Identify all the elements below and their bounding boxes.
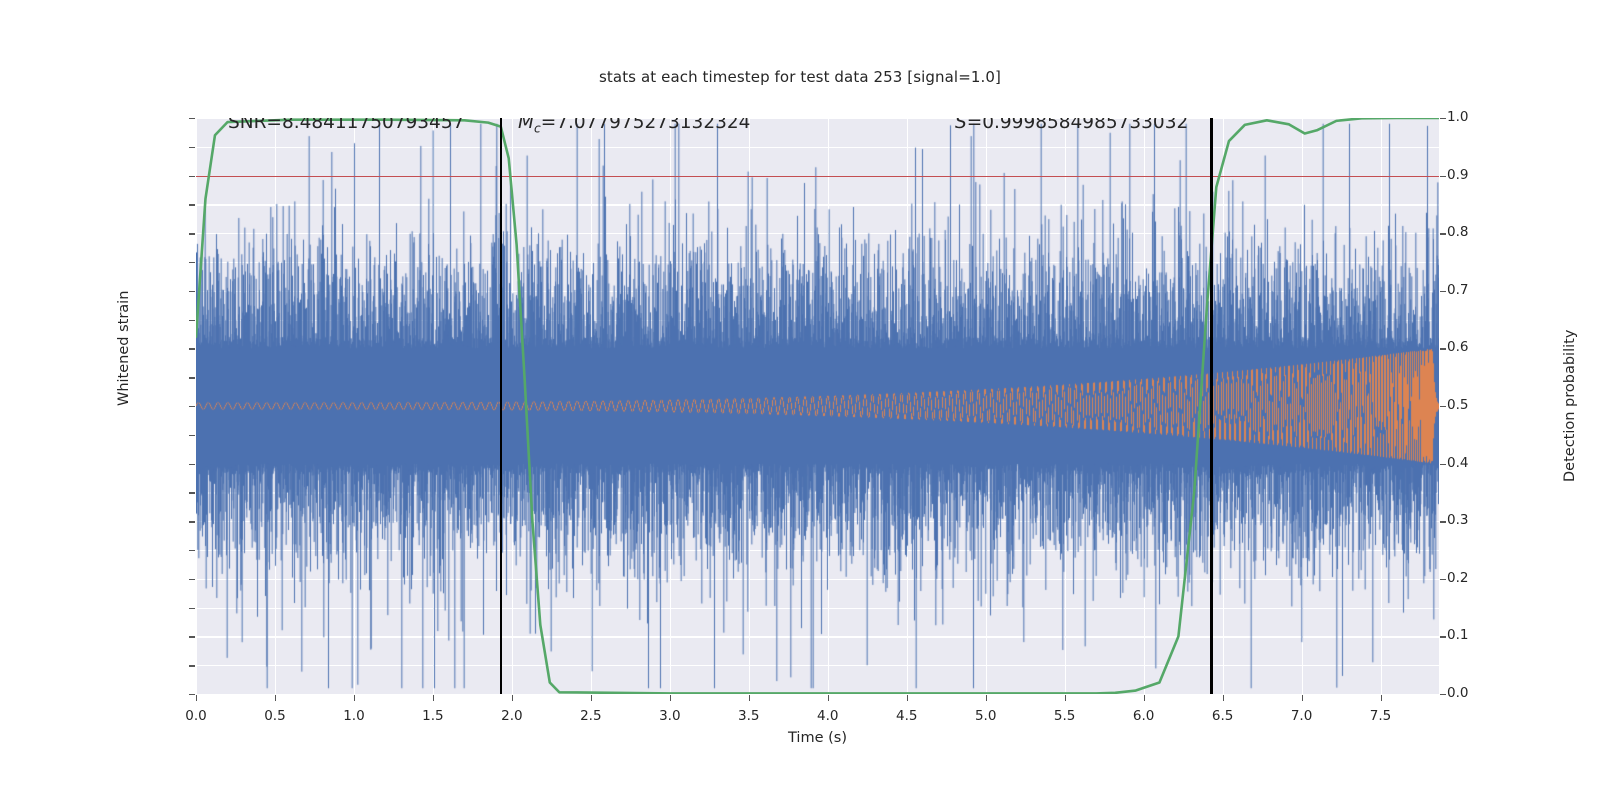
y-axis-tick-mark-right [1440, 406, 1446, 407]
y-axis-tick-mark-right [1440, 521, 1446, 522]
x-axis-tick-label: 7.5 [1346, 708, 1416, 724]
x-axis-tick-label: 2.5 [556, 708, 626, 724]
x-axis-tick-label: 0.5 [240, 708, 310, 724]
x-axis-tick-label: 6.5 [1188, 708, 1258, 724]
x-axis-tick-label: 7.0 [1267, 708, 1337, 724]
y-axis-tick-mark-left [189, 579, 195, 580]
probability-path [196, 118, 1439, 693]
chirp-mass-equals: = [541, 118, 557, 133]
score-equals: = [967, 118, 983, 133]
y-axis-tick-mark-left [189, 636, 195, 637]
x-axis-tick-label: 1.0 [319, 708, 389, 724]
y-axis-tick-mark-right [1440, 579, 1446, 580]
y-axis-tick-mark-left [189, 291, 195, 292]
y-axis-tick-label-right: 0.3 [1447, 512, 1527, 528]
y-axis-tick-mark-left [189, 118, 195, 119]
y-axis-tick-mark-left [189, 262, 195, 263]
y-axis-tick-mark-right [1440, 636, 1446, 637]
y-axis-tick-mark-right [1440, 694, 1446, 695]
y-axis-tick-label-right: 0.2 [1447, 570, 1527, 586]
x-axis-tick-mark [1065, 695, 1066, 701]
y-axis-tick-label-right: 1.0 [1447, 109, 1527, 125]
chirp-mass-annotation: Mc=7.077975273132324 [518, 118, 750, 136]
x-axis-label: Time (s) [196, 730, 1439, 746]
y-axis-tick-mark-left [189, 492, 195, 493]
y-axis-tick-mark-left [189, 204, 195, 205]
snr-label: SNR= [228, 118, 282, 133]
x-axis-tick-mark [670, 695, 671, 701]
y-axis-tick-label-right: 0.0 [1447, 685, 1527, 701]
x-axis-tick-mark [1381, 695, 1382, 701]
y-axis-tick-mark-right [1440, 291, 1446, 292]
snr-annotation: SNR=8.48411750793457 [228, 118, 464, 133]
page-title: stats at each timestep for test data 253… [0, 68, 1600, 86]
y-axis-tick-label-right: 0.1 [1447, 627, 1527, 643]
score-value: 0.9998584985733032 [982, 118, 1188, 133]
x-axis-tick-label: 4.0 [793, 708, 863, 724]
x-axis-tick-label: 2.0 [477, 708, 547, 724]
x-axis-tick-mark [1223, 695, 1224, 701]
x-axis-tick-mark [907, 695, 908, 701]
y-axis-label-left: Whitened strain [116, 291, 132, 406]
x-axis-tick-label: 0.0 [161, 708, 231, 724]
snr-value: 8.48411750793457 [282, 118, 464, 133]
y-axis-tick-mark-left [189, 377, 195, 378]
y-axis-tick-mark-left [189, 550, 195, 551]
y-axis-tick-mark-left [189, 406, 195, 407]
chirp-mass-value: 7.077975273132324 [556, 118, 750, 133]
signal-start-marker-line [1210, 118, 1213, 694]
x-axis-tick-label: 1.5 [398, 708, 468, 724]
y-axis-tick-mark-right [1440, 464, 1446, 465]
x-axis-tick-mark [196, 695, 197, 701]
chirp-mass-symbol: M [518, 118, 534, 133]
y-axis-tick-mark-left [189, 176, 195, 177]
y-axis-tick-mark-left [189, 435, 195, 436]
figure-canvas: stats at each timestep for test data 253… [0, 0, 1600, 800]
detection-probability-curve [196, 118, 1439, 694]
y-axis-tick-mark-left [189, 608, 195, 609]
y-axis-tick-mark-left [189, 147, 195, 148]
x-axis-tick-mark [828, 695, 829, 701]
chirp-mass-subscript: c [534, 122, 541, 136]
x-axis-tick-mark [1302, 695, 1303, 701]
y-axis-tick-mark-left [189, 694, 195, 695]
y-axis-tick-label-right: 0.6 [1447, 339, 1527, 355]
score-symbol: S [955, 118, 967, 133]
x-axis-tick-mark [986, 695, 987, 701]
plot-area: SNR=8.48411750793457 Mc=7.07797527313232… [196, 118, 1439, 694]
x-axis-tick-mark [275, 695, 276, 701]
y-axis-tick-mark-left [189, 464, 195, 465]
x-axis-tick-label: 5.0 [951, 708, 1021, 724]
y-axis-tick-mark-left [189, 233, 195, 234]
x-axis-tick-mark [749, 695, 750, 701]
y-axis-tick-label-right: 0.5 [1447, 397, 1527, 413]
y-axis-tick-mark-left [189, 320, 195, 321]
x-axis-tick-label: 3.0 [635, 708, 705, 724]
x-axis-tick-label: 4.5 [872, 708, 942, 724]
y-axis-tick-label-right: 0.4 [1447, 455, 1527, 471]
y-axis-tick-mark-left [189, 348, 195, 349]
y-axis-tick-label-right: 0.7 [1447, 282, 1527, 298]
y-axis-label-right: Detection probability [1562, 330, 1578, 482]
score-annotation: S=0.9998584985733032 [955, 118, 1188, 133]
y-axis-tick-mark-left [189, 521, 195, 522]
y-axis-tick-mark-left [189, 665, 195, 666]
x-axis-tick-label: 3.5 [714, 708, 784, 724]
x-axis-tick-label: 6.0 [1109, 708, 1179, 724]
x-axis-tick-mark [1144, 695, 1145, 701]
x-axis-tick-label: 5.5 [1030, 708, 1100, 724]
x-axis-tick-mark [433, 695, 434, 701]
y-axis-tick-mark-right [1440, 233, 1446, 234]
x-axis-tick-mark [512, 695, 513, 701]
y-axis-tick-label-right: 0.8 [1447, 224, 1527, 240]
y-axis-tick-mark-right [1440, 118, 1446, 119]
signal-end-marker-line [500, 118, 503, 694]
y-axis-tick-mark-right [1440, 176, 1446, 177]
y-axis-tick-label-right: 0.9 [1447, 167, 1527, 183]
x-axis-tick-mark [354, 695, 355, 701]
x-axis-tick-mark [591, 695, 592, 701]
y-axis-tick-mark-right [1440, 348, 1446, 349]
